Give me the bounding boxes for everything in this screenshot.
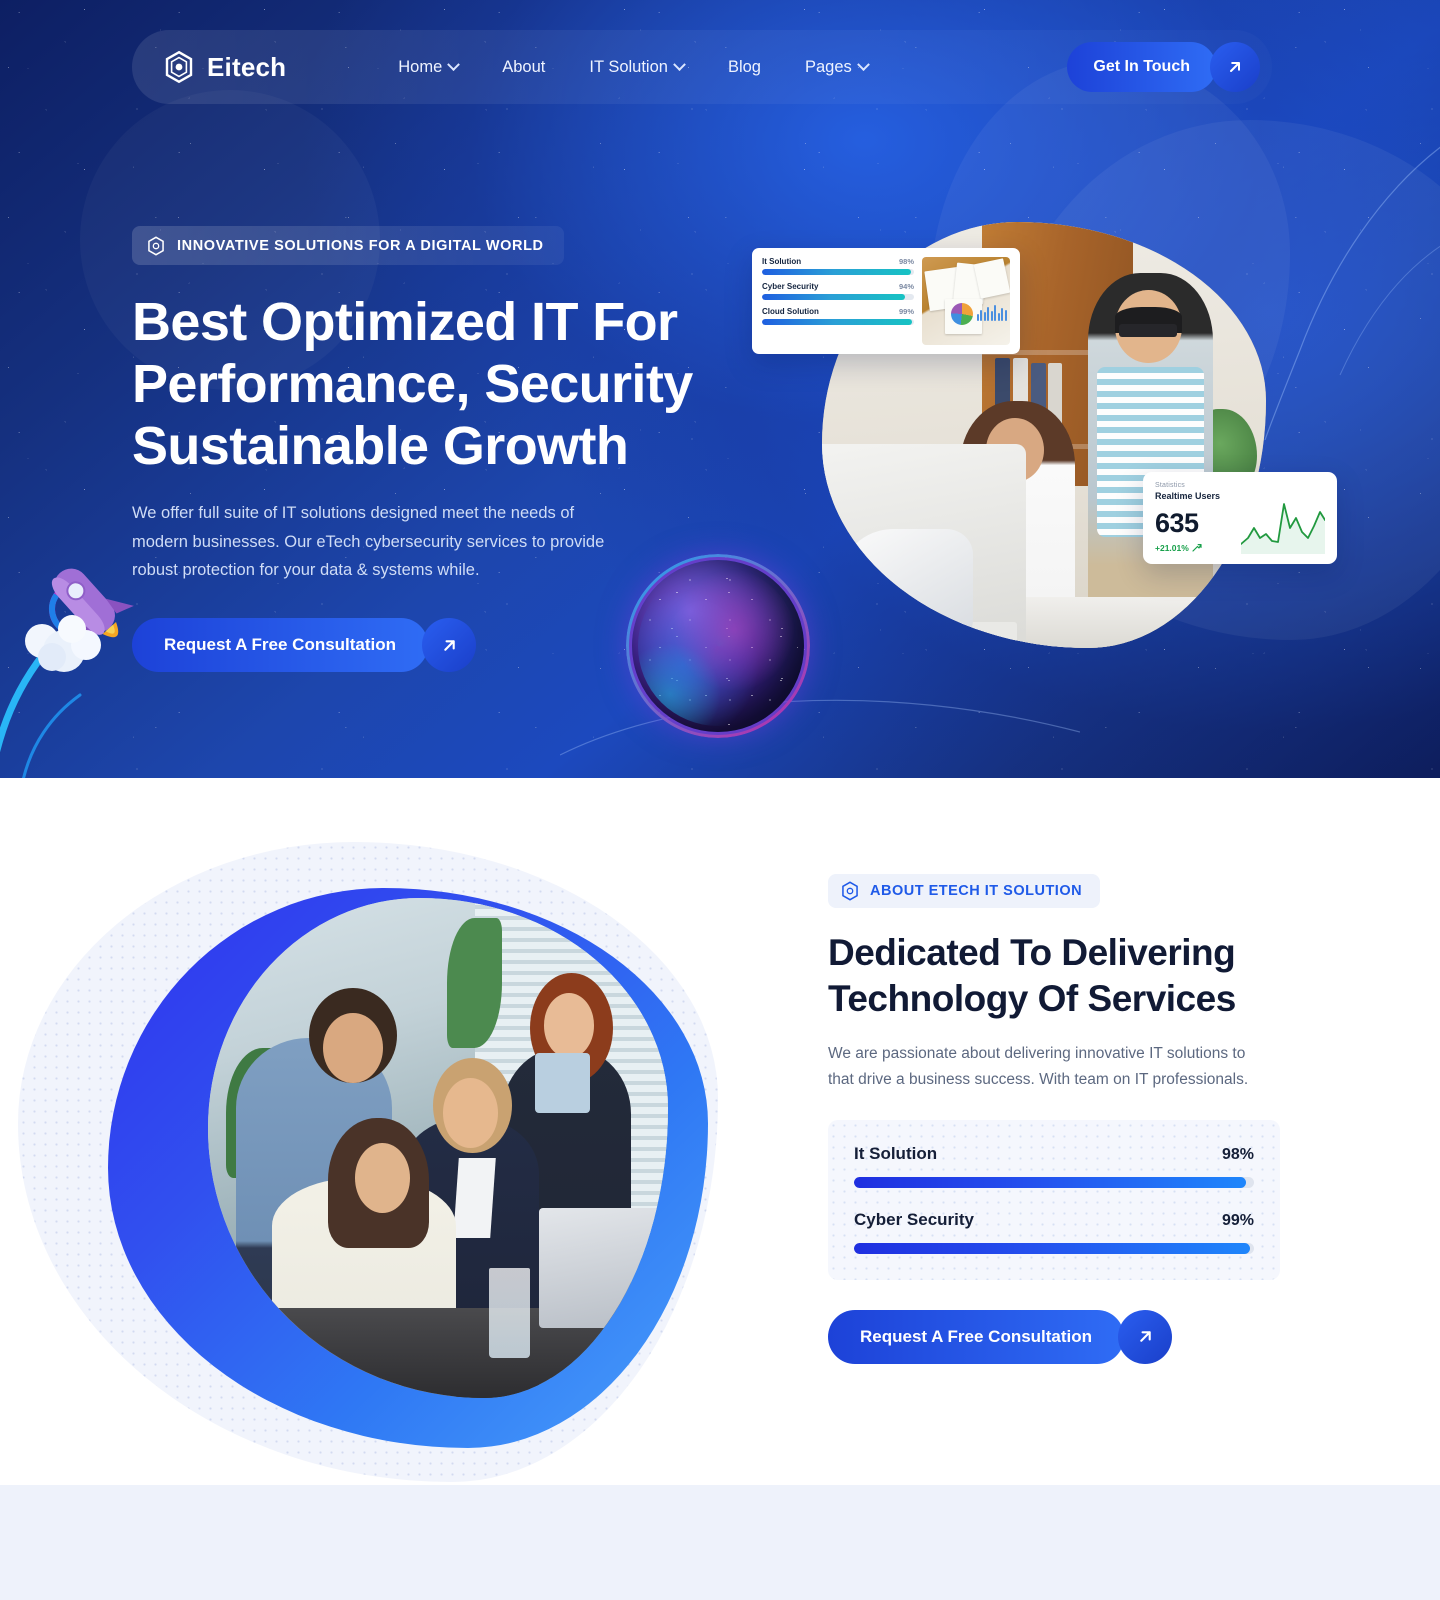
- hero-title-line-3: Sustainable Growth: [132, 415, 732, 477]
- hero-request-consultation-arrow-button[interactable]: [422, 618, 476, 672]
- hero-section: Eitech Home About IT Solution Blog Pages: [0, 0, 1440, 778]
- about-progress-row: It Solution 98%: [854, 1144, 1254, 1188]
- brand-logo[interactable]: Eitech: [162, 50, 286, 84]
- nav-item-pages[interactable]: Pages: [805, 58, 868, 77]
- about-cta-group: Request A Free Consultation: [828, 1310, 1288, 1364]
- nav-item-pages-label: Pages: [805, 58, 852, 77]
- nav-item-blog-label: Blog: [728, 58, 761, 77]
- nav-item-home[interactable]: Home: [398, 58, 458, 77]
- sparkline-chart-icon: [1241, 498, 1325, 554]
- hero-skill-track: [762, 319, 914, 325]
- hero-skill-percent: 98%: [899, 257, 914, 266]
- hexagon-logo-icon: [840, 881, 860, 901]
- about-request-consultation-arrow-button[interactable]: [1118, 1310, 1172, 1364]
- hero-skill-percent: 94%: [899, 282, 914, 291]
- arrow-up-right-icon: [1225, 57, 1245, 77]
- about-progress-percent: 99%: [1222, 1212, 1254, 1230]
- hero-stats-value: 635: [1155, 510, 1241, 537]
- navbar: Eitech Home About IT Solution Blog Pages: [132, 30, 1272, 104]
- hero-skill-row: Cyber Security 94%: [762, 282, 914, 300]
- about-content: ABOUT ETECH IT SOLUTION Dedicated To Del…: [828, 874, 1288, 1364]
- about-photo: [208, 898, 668, 1398]
- nav-item-about-label: About: [502, 58, 545, 77]
- about-progress-track: [854, 1243, 1254, 1254]
- hero-stats-delta: +21.01%: [1155, 543, 1241, 553]
- nav-item-blog[interactable]: Blog: [728, 58, 761, 77]
- about-badge: ABOUT ETECH IT SOLUTION: [828, 874, 1100, 908]
- rocket-illustration: [0, 545, 210, 778]
- trend-up-icon: [1192, 543, 1202, 553]
- hero-badge-label: INNOVATIVE SOLUTIONS FOR A DIGITAL WORLD: [177, 238, 544, 254]
- hexagon-logo-icon: [146, 236, 166, 256]
- about-title: Dedicated To Delivering Technology Of Se…: [828, 930, 1288, 1021]
- hero-title-line-2: Performance, Security: [132, 353, 732, 415]
- about-title-line-1: Dedicated To Delivering: [828, 930, 1288, 976]
- hexagon-logo-icon: [162, 50, 196, 84]
- hero-skills-card-photo: [922, 257, 1010, 345]
- hero-skill-label: Cloud Solution: [762, 307, 819, 316]
- hero-skill-label: It Solution: [762, 257, 801, 266]
- nav-item-home-label: Home: [398, 58, 442, 77]
- nav-item-it-solution-label: IT Solution: [589, 58, 668, 77]
- about-paragraph: We are passionate about delivering innov…: [828, 1041, 1268, 1094]
- about-progress-row: Cyber Security 99%: [854, 1210, 1254, 1254]
- rocket-icon: [0, 545, 210, 778]
- get-in-touch-arrow-button[interactable]: [1210, 42, 1260, 92]
- nav-item-about[interactable]: About: [502, 58, 545, 77]
- globe-ring-decoration: [626, 554, 810, 738]
- arrow-up-right-icon: [1135, 1326, 1156, 1347]
- hero-stats-card: Statistics Realtime Users 635 +21.01%: [1143, 472, 1337, 564]
- hero-skill-track: [762, 269, 914, 275]
- about-progress-percent: 98%: [1222, 1146, 1254, 1164]
- hero-skill-row: It Solution 98%: [762, 257, 914, 275]
- hero-skill-percent: 99%: [899, 307, 914, 316]
- hero-stats-delta-label: +21.01%: [1155, 543, 1189, 553]
- hero-badge: INNOVATIVE SOLUTIONS FOR A DIGITAL WORLD: [132, 226, 564, 265]
- arrow-up-right-icon: [439, 635, 460, 656]
- hero-stats-text: Statistics Realtime Users 635 +21.01%: [1155, 482, 1241, 554]
- hero-stats-sparkline: [1241, 482, 1325, 554]
- hero-skills-card: It Solution 98% Cyber Security 94% Cloud…: [752, 248, 1020, 354]
- about-title-line-2: Technology Of Services: [828, 976, 1288, 1022]
- chevron-down-icon: [673, 58, 686, 71]
- hero-title-line-1: Best Optimized IT For: [132, 291, 732, 353]
- hero-stats-title: Realtime Users: [1155, 491, 1241, 501]
- chevron-down-icon: [447, 58, 460, 71]
- about-request-consultation-button[interactable]: Request A Free Consultation: [828, 1310, 1124, 1364]
- nav-links: Home About IT Solution Blog Pages: [398, 58, 868, 77]
- about-progress-card: It Solution 98% Cyber Security 99%: [828, 1120, 1280, 1280]
- hero-skill-row: Cloud Solution 99%: [762, 307, 914, 325]
- about-badge-label: ABOUT ETECH IT SOLUTION: [870, 883, 1082, 899]
- about-progress-track: [854, 1177, 1254, 1188]
- hero-skill-track: [762, 294, 914, 300]
- get-in-touch-button[interactable]: Get In Touch: [1067, 42, 1216, 92]
- nav-cta-group: Get In Touch: [1067, 42, 1260, 92]
- about-progress-label: Cyber Security: [854, 1210, 974, 1230]
- hero-skills-list: It Solution 98% Cyber Security 94% Cloud…: [762, 257, 914, 345]
- nav-item-it-solution[interactable]: IT Solution: [589, 58, 684, 77]
- brand-name: Eitech: [207, 52, 286, 83]
- about-progress-label: It Solution: [854, 1144, 937, 1164]
- chevron-down-icon: [857, 58, 870, 71]
- bottom-band: [0, 1485, 1440, 1600]
- hero-title: Best Optimized IT For Performance, Secur…: [132, 291, 732, 477]
- hero-skill-label: Cyber Security: [762, 282, 818, 291]
- hero-stats-kicker: Statistics: [1155, 482, 1241, 489]
